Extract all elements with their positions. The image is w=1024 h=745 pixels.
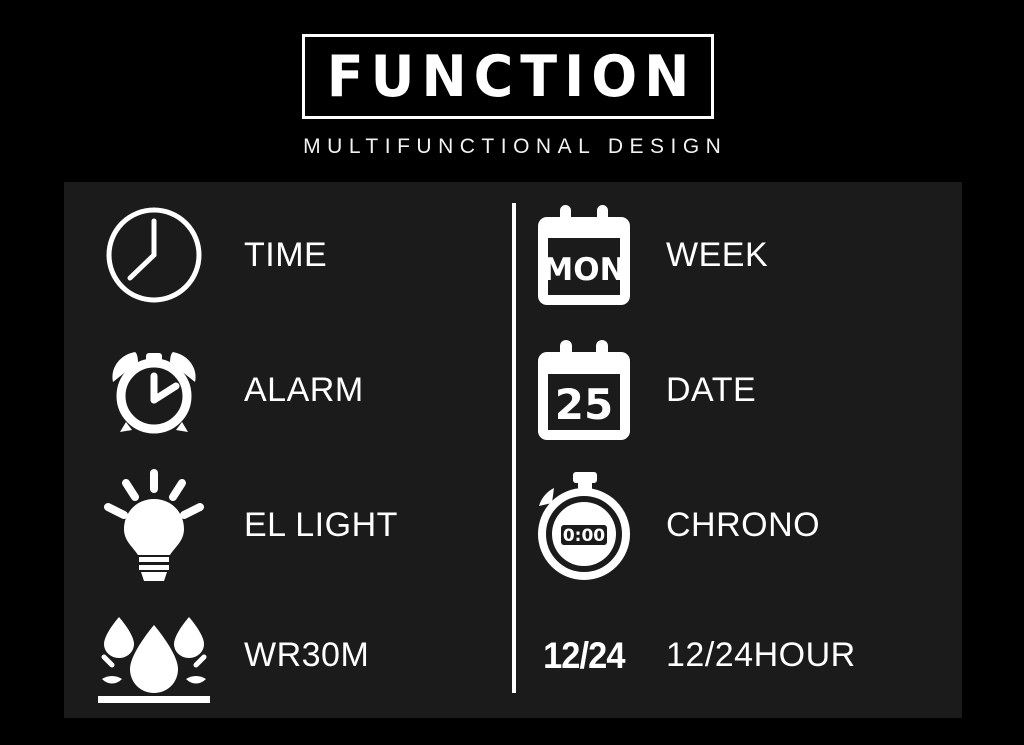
feature-row-week: MON WEEK bbox=[516, 196, 964, 314]
alarm-clock-icon bbox=[64, 331, 244, 449]
twelve-twentyfour-icon: 12/24 bbox=[516, 596, 652, 714]
feature-label-time: TIME bbox=[244, 238, 327, 272]
page-subtitle: MULTIFUNCTIONAL DESIGN bbox=[0, 135, 1024, 159]
stopwatch-display-text: 0:00 bbox=[563, 526, 605, 546]
page-title: FUNCTION bbox=[320, 48, 697, 105]
feature-row-hour-format: 12/24 12/24HOUR bbox=[516, 596, 964, 714]
light-bulb-icon bbox=[64, 466, 244, 584]
calendar-date-icon: 25 bbox=[516, 331, 652, 449]
feature-row-el-light: EL LIGHT bbox=[64, 466, 512, 584]
feature-row-time: TIME bbox=[64, 196, 512, 314]
calendar-week-icon: MON bbox=[516, 196, 652, 314]
feature-row-date: 25 DATE bbox=[516, 331, 964, 449]
feature-label-hour-format: 12/24HOUR bbox=[666, 638, 856, 672]
feature-label-chrono: CHRONO bbox=[666, 508, 820, 542]
feature-label-week: WEEK bbox=[666, 238, 768, 272]
header: FUNCTION MULTIFUNCTIONAL DESIGN bbox=[0, 0, 1024, 182]
water-drops-icon bbox=[64, 596, 244, 714]
feature-row-chrono: 0:00 CHRONO bbox=[516, 466, 964, 584]
title-box: FUNCTION bbox=[302, 34, 714, 119]
features-panel: TIME ALARM bbox=[64, 182, 962, 718]
stopwatch-icon: 0:00 bbox=[516, 466, 652, 584]
calendar-week-text: MON bbox=[542, 252, 625, 288]
calendar-date-text: 25 bbox=[555, 380, 613, 429]
feature-label-water-resistance: WR30M bbox=[244, 638, 369, 672]
right-feature-column: MON WEEK 25 DATE bbox=[516, 182, 964, 718]
feature-row-alarm: ALARM bbox=[64, 331, 512, 449]
left-feature-column: TIME ALARM bbox=[64, 182, 512, 718]
feature-label-alarm: ALARM bbox=[244, 373, 364, 407]
feature-label-date: DATE bbox=[666, 373, 756, 407]
feature-label-el-light: EL LIGHT bbox=[244, 508, 398, 542]
clock-icon bbox=[64, 196, 244, 314]
twelve-twentyfour-text: 12/24 bbox=[543, 637, 624, 674]
feature-row-water-resistance: WR30M bbox=[64, 596, 512, 714]
